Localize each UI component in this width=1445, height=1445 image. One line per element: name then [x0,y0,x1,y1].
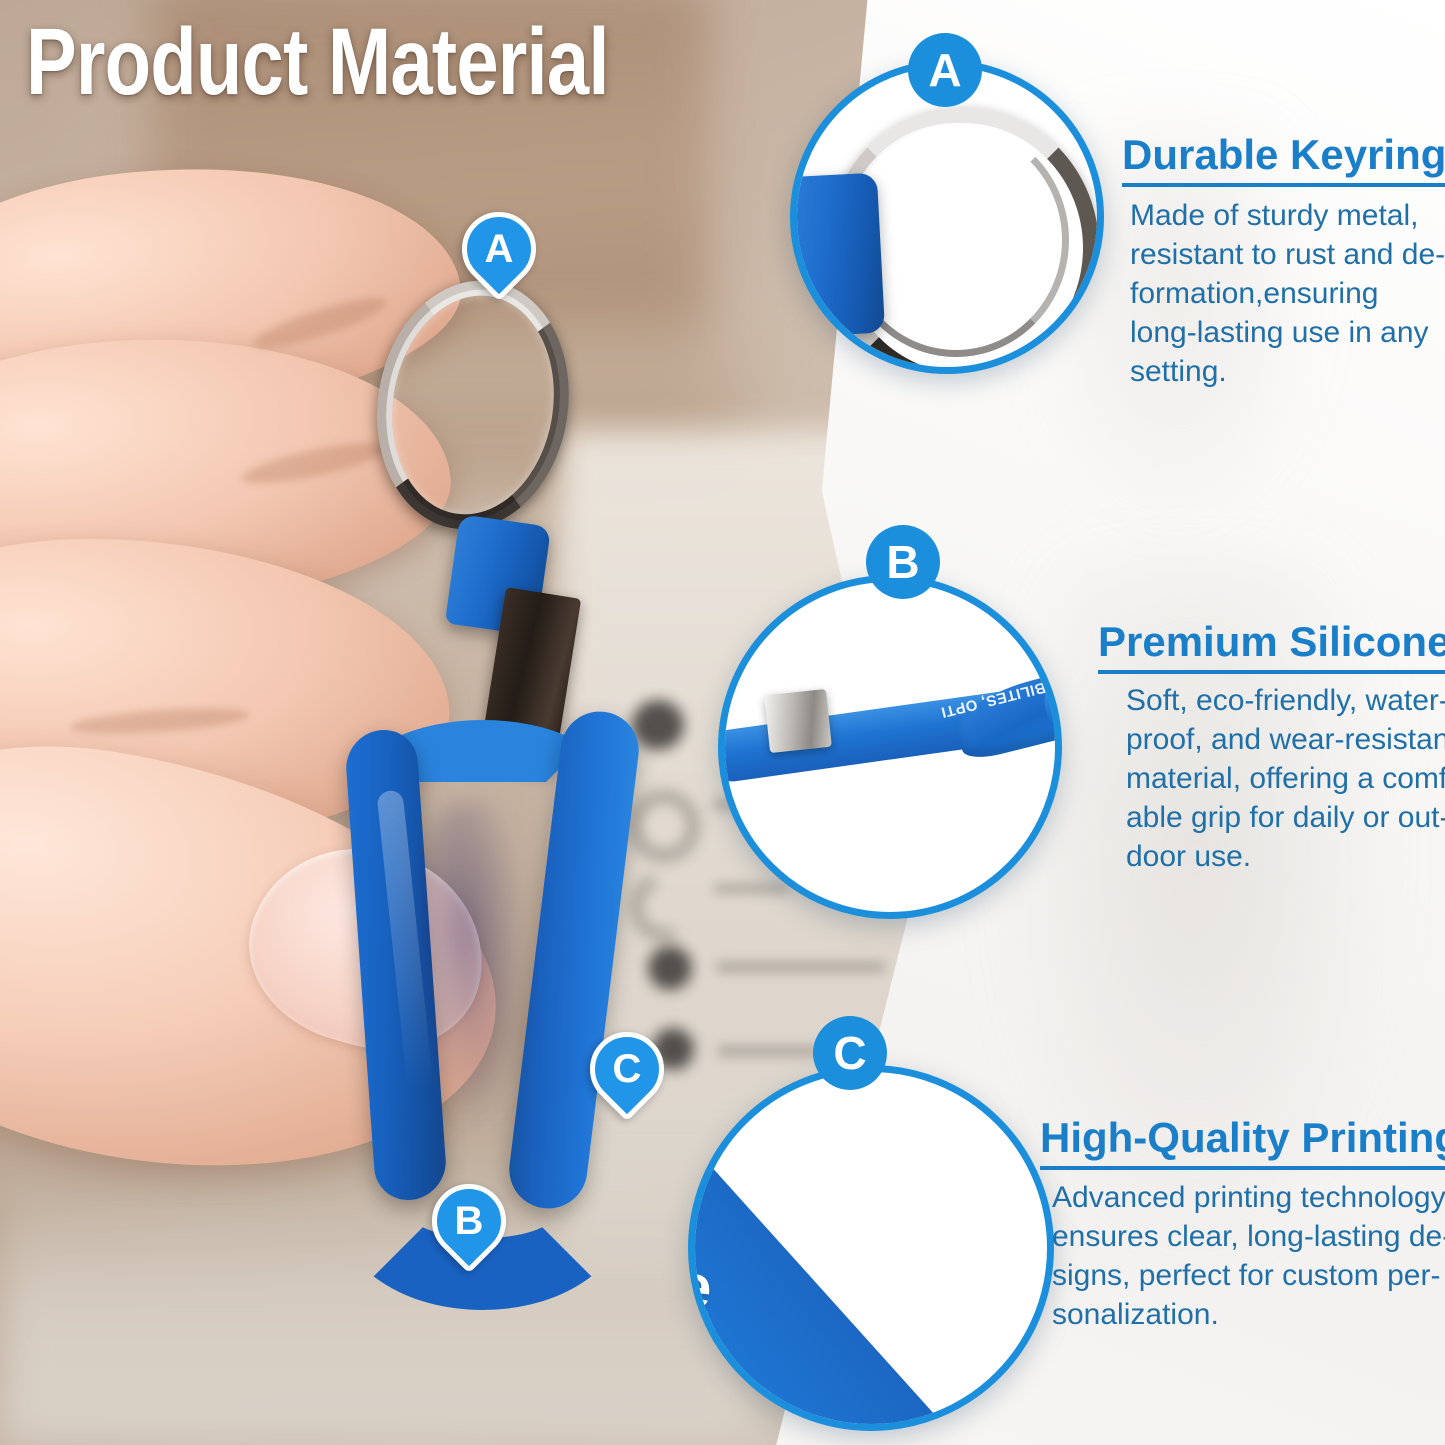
feature-body-line: long-lasting use in any [1130,313,1445,352]
feature-body-line: proof, and wear-resistant [1126,720,1445,759]
feature-body-line: Advanced printing technology [1052,1178,1445,1217]
feature-body-line: formation,ensuring [1130,274,1445,313]
feature-body-line: door use. [1126,837,1445,876]
page-title: Product Material [26,14,609,111]
detail-circle-printing: Never Give [688,1065,1054,1431]
keyring-closeup-silicone [790,173,885,338]
feature-heading-silicone: Premium Silicone [1098,618,1445,674]
feature-body-line: material, offering a comfort- [1126,759,1445,798]
silicone-closeup-crimp [764,689,832,753]
pin-marker-b: B [432,1184,506,1276]
badge-a: A [908,33,982,107]
feature-body-line: Made of sturdy metal, [1130,196,1445,235]
feature-body-line: resistant to rust and de- [1130,235,1445,274]
metal-split-keyring [360,267,587,544]
feature-body-line: sonalization. [1052,1295,1445,1334]
badge-b: B [866,525,940,599]
detail-circle-silicone: HAT YOU ARE ABILITES, OPTI [718,575,1062,919]
badge-c: C [813,1016,887,1090]
feature-body-printing: Advanced printing technology ensures cle… [1052,1178,1445,1334]
feature-body-line: ensures clear, long-lasting de- [1052,1217,1445,1256]
pin-label: C [590,1032,664,1106]
feature-body-line: signs, perfect for custom per- [1052,1256,1445,1295]
pin-marker-c: C [590,1032,664,1124]
pin-label: A [462,212,536,286]
feature-body-line: setting. [1130,352,1445,391]
feature-body-keyring: Made of sturdy metal, resistant to rust … [1130,196,1445,391]
printed-slogan: Never Give [688,1220,900,1344]
feature-body-line: able grip for daily or out- [1126,798,1445,837]
feature-body-line: Soft, eco-friendly, water- [1126,681,1445,720]
background-mark-dot [648,946,692,990]
background-mark-line [716,962,886,972]
pin-marker-a: A [462,212,536,304]
detail-circle-keyring [790,60,1104,374]
pin-label: B [432,1184,506,1258]
feature-heading-printing: High-Quality Printing [1040,1114,1445,1170]
feature-body-silicone: Soft, eco-friendly, water- proof, and we… [1126,681,1445,876]
infographic-canvas: Product Material A Durable Keyring Made … [0,0,1445,1445]
background-mark-line [714,884,788,893]
feature-heading-keyring: Durable Keyring [1122,131,1445,187]
